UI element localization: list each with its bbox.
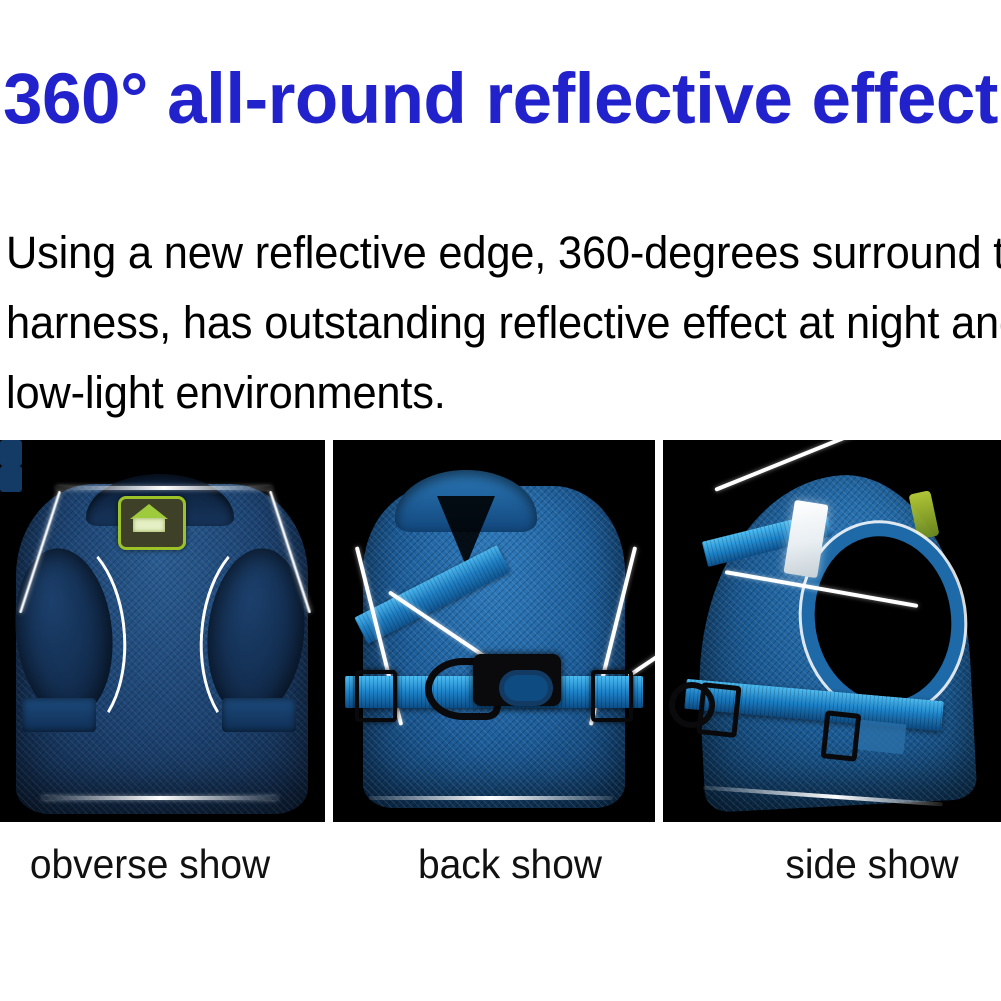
clip-opening (499, 670, 553, 706)
center-clip (473, 654, 561, 706)
harness-shell (363, 486, 625, 808)
side-tab-right (0, 466, 22, 492)
product-photo-back[interactable] (333, 440, 655, 822)
logo-house-body-icon (133, 518, 165, 532)
harness-side-illustration (663, 440, 1001, 822)
photo-captions: obverse show back show side show (0, 836, 1001, 896)
product-photo-strip (0, 440, 1001, 822)
page-title: 360° all-round reflective effect (0, 62, 1001, 138)
product-photo-obverse[interactable] (0, 440, 325, 822)
description-paragraph: Using a new reflective edge, 360-degrees… (6, 218, 998, 428)
reflective-piping-bottom (369, 796, 613, 800)
reflective-piping-top (56, 486, 272, 490)
description-line-3: low-light environments. (6, 358, 963, 428)
care-label (858, 720, 907, 755)
caption-back: back show (368, 836, 653, 892)
caption-side: side show (730, 836, 1001, 892)
description-line-2: harness, has outstanding reflective effe… (6, 288, 963, 358)
buckle-left (355, 670, 397, 722)
side-strap-left (22, 698, 96, 732)
side-strap-right (222, 698, 296, 732)
mesh-texture (363, 486, 625, 808)
product-photo-side[interactable] (663, 440, 1001, 822)
caption-obverse: obverse show (8, 836, 293, 892)
infographic-page: 360° all-round reflective effect Using a… (0, 0, 1001, 1001)
reflective-piping-bottom (42, 796, 278, 800)
logo-roof-icon (130, 504, 168, 519)
description-line-1: Using a new reflective edge, 360-degrees… (6, 218, 963, 288)
reflective-piping-cross-right (628, 590, 655, 677)
harness-back-illustration (333, 440, 655, 822)
buckle-right (591, 670, 633, 722)
strap-loop (821, 710, 862, 762)
side-tab-left (0, 440, 22, 466)
harness-front-illustration (0, 440, 325, 822)
brand-logo-patch (118, 496, 186, 550)
